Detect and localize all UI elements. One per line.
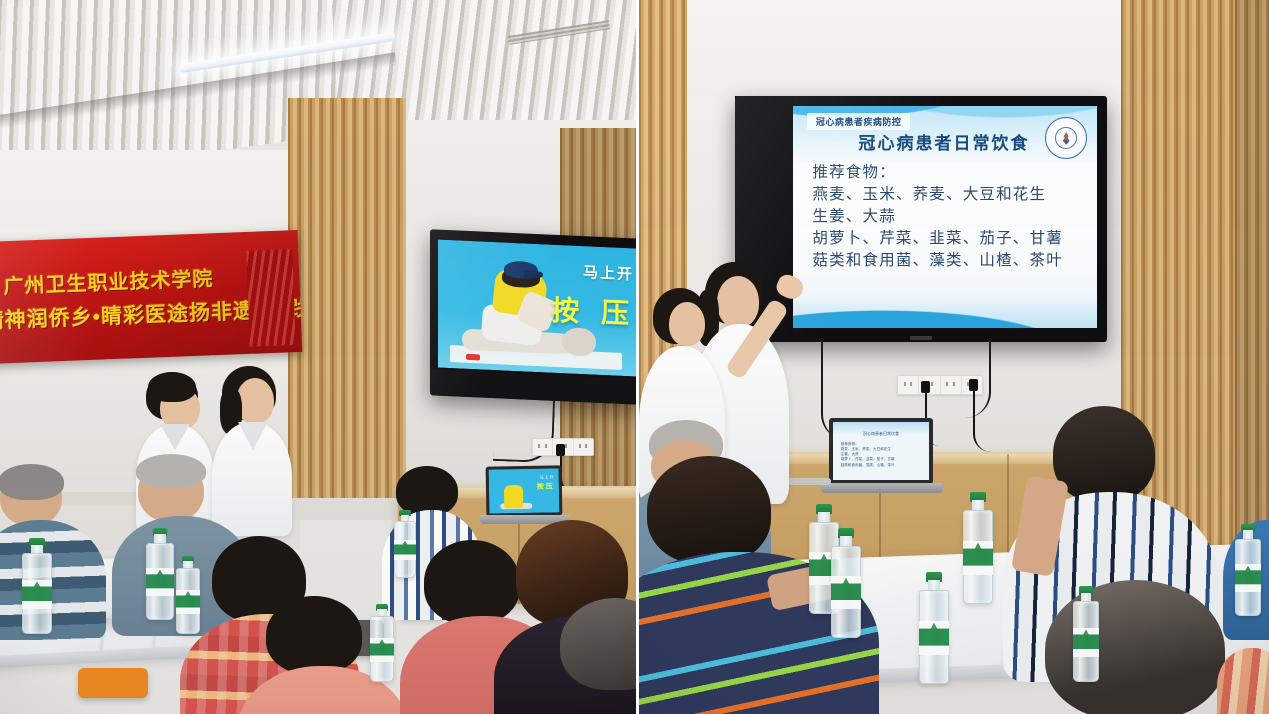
presentation-slide: 冠心病患者疾病防控 冠心病患者日常饮食 推荐食物： 燕麦、玉米、荞麦、大豆和花生… bbox=[791, 106, 1097, 328]
right-tv-logo bbox=[910, 336, 932, 340]
mini-caption-main: 按压 bbox=[537, 482, 555, 492]
slide-line-4: 菇类和食用菌、藻类、山楂、茶叶 bbox=[812, 250, 1084, 272]
outlet-socket-1[interactable] bbox=[898, 376, 919, 394]
right-tv-screen: 冠心病患者疾病防控 冠心病患者日常饮食 推荐食物： 燕麦、玉米、荞麦、大豆和花生… bbox=[791, 106, 1097, 328]
bottle-label bbox=[394, 540, 416, 560]
bottle-label bbox=[1235, 564, 1261, 592]
audience-4-hair bbox=[266, 596, 362, 674]
emblem-flame-icon bbox=[1062, 132, 1071, 145]
bottle-label bbox=[1073, 628, 1099, 657]
slide-line-0: 推荐食物： bbox=[812, 162, 1084, 184]
audience-8-hair bbox=[560, 598, 636, 690]
aud-r4-hair bbox=[1045, 580, 1225, 714]
outlet-socket-1[interactable] bbox=[533, 439, 553, 455]
bottle-l2 bbox=[146, 528, 174, 620]
left-laptop-lid: 马上开 按压 bbox=[486, 465, 563, 516]
right-outlet-cable-2 bbox=[973, 388, 993, 452]
slide-line-2: 生姜、大蒜 bbox=[812, 206, 1084, 228]
bottle-label bbox=[831, 576, 861, 609]
assistant-head bbox=[669, 302, 705, 346]
bottle-r6 bbox=[1073, 586, 1099, 682]
speaker-head bbox=[717, 276, 759, 328]
bottle-label bbox=[22, 580, 52, 609]
slide-body-text: 推荐食物： 燕麦、玉米、荞麦、大豆和花生 生姜、大蒜 胡萝卜、芹菜、韭菜、茄子、… bbox=[812, 162, 1084, 272]
bottle-r7 bbox=[1235, 524, 1261, 616]
audience-5-hair bbox=[396, 466, 458, 516]
bottle-l1 bbox=[22, 538, 52, 634]
cpr-video: 马上开 按 压 bbox=[438, 240, 636, 377]
presenter-1-hair-top bbox=[148, 372, 196, 402]
bottle-label bbox=[919, 621, 949, 655]
audience-left-8 bbox=[560, 598, 636, 714]
cpr-caption-main: 按 压 bbox=[551, 288, 636, 332]
mini-rescuer bbox=[504, 485, 523, 508]
audience-1-shirt bbox=[0, 520, 106, 640]
cpr-rescuer-cap bbox=[504, 260, 538, 278]
audience-right-6 bbox=[1217, 648, 1269, 714]
audience-1-hair bbox=[0, 464, 64, 500]
photo-collage: 广州卫生职业技术学院 精神润侨乡•睛彩医途扬非遗”实践团队 马上开 按 压 bbox=[0, 0, 1269, 714]
bottle-r5 bbox=[963, 492, 993, 604]
right-tv-frame: 冠心病患者疾病防控 冠心病患者日常饮食 推荐食物： 燕麦、玉米、荞麦、大豆和花生… bbox=[735, 96, 1107, 342]
cpr-video-watermark bbox=[466, 353, 480, 360]
bottle-label bbox=[963, 541, 993, 575]
audience-left-1 bbox=[0, 468, 104, 618]
bottle-r3 bbox=[831, 528, 861, 638]
mini-slide-title: 冠心病患者日常饮食 bbox=[833, 431, 929, 437]
bottle-label bbox=[176, 590, 200, 613]
aud-r6-bag bbox=[1217, 648, 1269, 714]
school-emblem-icon bbox=[1045, 117, 1087, 159]
right-photo-panel: 冠心病患者疾病防控 冠心病患者日常饮食 推荐食物： 燕麦、玉米、荞麦、大豆和花生… bbox=[639, 0, 1269, 714]
left-tv-frame: 马上开 按 压 bbox=[430, 229, 636, 405]
aud-r3-hair bbox=[1053, 406, 1155, 502]
bottle-l4 bbox=[370, 604, 394, 682]
bottle-label bbox=[370, 638, 394, 661]
slide-line-1: 燕麦、玉米、荞麦、大豆和花生 bbox=[812, 184, 1084, 206]
credenza-seam-2 bbox=[1007, 454, 1009, 560]
left-tv-screen: 马上开 按 压 bbox=[438, 240, 636, 377]
bottle-label bbox=[146, 568, 174, 596]
emblem-inner-ring bbox=[1055, 127, 1077, 149]
slide-line-3: 胡萝卜、芹菜、韭菜、茄子、甘薯 bbox=[812, 228, 1084, 250]
bottle-r4 bbox=[919, 572, 949, 684]
bottle-l5 bbox=[394, 510, 416, 578]
cpr-caption-top: 马上开 bbox=[583, 261, 634, 284]
bottle-l3 bbox=[176, 556, 200, 634]
slide-footer-wave bbox=[791, 290, 1097, 328]
left-laptop-screen: 马上开 按压 bbox=[489, 468, 560, 513]
outlet-socket-3[interactable] bbox=[941, 376, 962, 394]
aud-r2-hair bbox=[647, 456, 771, 564]
left-chair-1 bbox=[78, 668, 148, 698]
wood-slat-panel-left bbox=[288, 98, 406, 498]
collage-divider bbox=[636, 0, 639, 714]
audience-2-hair bbox=[136, 454, 206, 488]
banner-wrinkle bbox=[246, 249, 295, 347]
slide-section-tag: 冠心病患者疾病防控 bbox=[807, 113, 911, 130]
mini-caption-top: 马上开 bbox=[540, 475, 555, 481]
left-laptop-mini-video: 马上开 按压 bbox=[489, 468, 560, 513]
left-photo-panel: 广州卫生职业技术学院 精神润侨乡•睛彩医途扬非遗”实践团队 马上开 按 压 bbox=[0, 0, 636, 714]
